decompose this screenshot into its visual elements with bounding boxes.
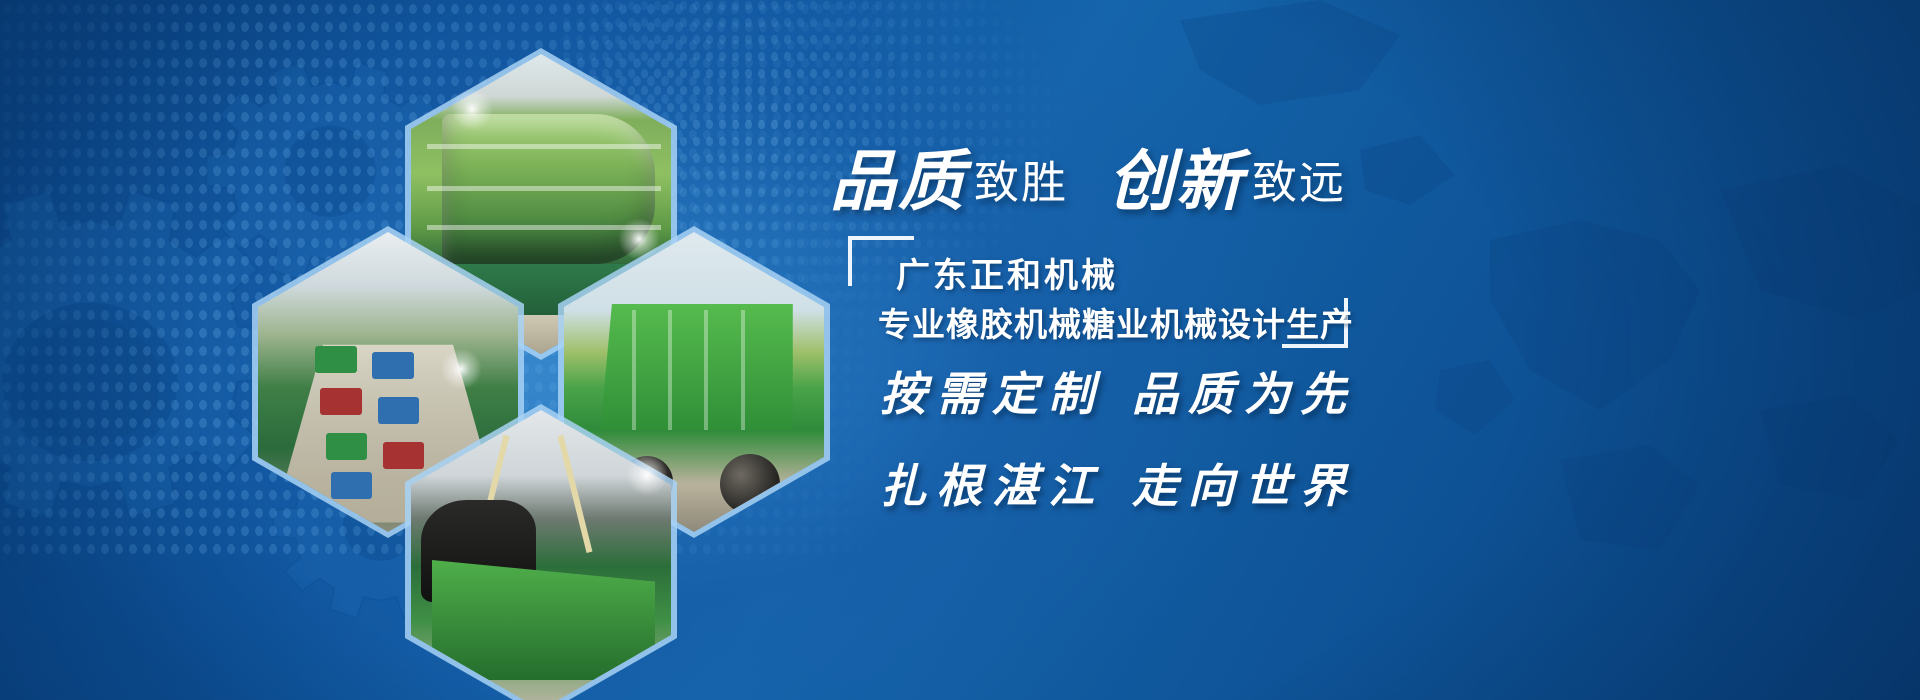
vignette-overlay <box>0 0 1920 700</box>
promotional-banner: 品质致胜创新致远 广东正和机械 专业橡胶机械糖业机械设计生产 按需定制品质为先 … <box>0 0 1920 700</box>
